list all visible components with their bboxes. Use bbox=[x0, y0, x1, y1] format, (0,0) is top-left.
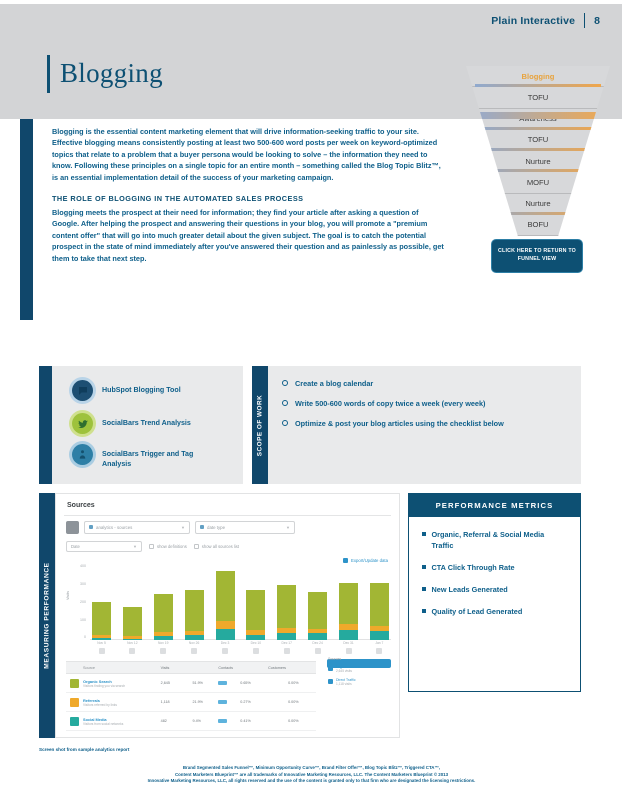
grid-toggle-icon[interactable] bbox=[66, 521, 79, 534]
funnel-row-nurture-1[interactable]: Nurture bbox=[466, 151, 610, 172]
table-cell-source: Social Media Visitors from social networ… bbox=[83, 717, 157, 726]
chevron-down-icon: ▼ bbox=[133, 544, 137, 549]
section-heading: THE ROLE OF BLOGGING IN THE AUTOMATED SA… bbox=[52, 194, 447, 203]
chart-bar-segment bbox=[185, 590, 204, 630]
funnel-row-blogging[interactable]: Blogging bbox=[466, 66, 610, 87]
funnel-divider-bar bbox=[475, 127, 602, 130]
chart-x-tick-label: Nov 19 bbox=[154, 641, 173, 661]
scope-item: Optimize & post your blog articles using… bbox=[282, 418, 567, 429]
chart-bar-segment bbox=[370, 583, 389, 626]
table-cell-bar bbox=[218, 719, 236, 723]
brand-header: Plain Interactive 8 bbox=[491, 13, 600, 28]
table-row[interactable]: Organic Search Visitors finding you via … bbox=[66, 674, 316, 693]
chart-bar-segment bbox=[277, 633, 296, 640]
table-header-customers[interactable]: Customers bbox=[268, 666, 284, 670]
performance-metrics-body: Organic, Referral & Social Media Traffic… bbox=[409, 517, 580, 617]
page-title: Blogging bbox=[60, 58, 163, 89]
chart-x-marker bbox=[160, 648, 166, 654]
chart-bar-column bbox=[308, 566, 327, 640]
chevron-down-icon: ▼ bbox=[286, 525, 290, 530]
table-cell-visits: 2,645 bbox=[161, 681, 189, 685]
table-cell-visits-pct: 21.9% bbox=[193, 700, 215, 704]
chart-bar-column bbox=[277, 566, 296, 640]
table-header-row: Source Visits Contacts Customers bbox=[66, 661, 316, 674]
source-desc: Visitors referred by links bbox=[83, 703, 157, 707]
intro-accent-edge bbox=[20, 119, 33, 320]
chart-x-marker bbox=[222, 648, 228, 654]
square-bullet-icon bbox=[422, 532, 426, 536]
chart-x-tick-label: Dec 10 bbox=[246, 641, 265, 661]
show-definitions-checkbox[interactable]: show definitions bbox=[149, 544, 187, 549]
screenshot-filter-row: analytics - sources ▼ date type ▼ bbox=[66, 520, 389, 534]
tool-item-trend-analysis[interactable]: SocialBars Trend Analysis bbox=[72, 413, 191, 434]
show-all-sources-label: show all sources list bbox=[202, 544, 239, 549]
table-row[interactable]: Referrals Visitors referred by links 1,1… bbox=[66, 693, 316, 712]
square-bullet-icon bbox=[422, 609, 426, 613]
table-cell-contacts: 0.65% bbox=[240, 681, 264, 685]
chart-x-marker bbox=[191, 648, 197, 654]
chart-bar-segment bbox=[370, 631, 389, 640]
table-header-source[interactable]: Source bbox=[83, 666, 157, 670]
table-cell-customers: 0.00% bbox=[288, 681, 312, 685]
funnel-row-nurture-2[interactable]: Nurture bbox=[466, 194, 610, 215]
person-icon bbox=[72, 444, 93, 465]
table-cell-customers: 0.00% bbox=[288, 719, 312, 723]
funnel-row-label: BOFU bbox=[527, 220, 548, 229]
chart-x-marker bbox=[99, 648, 105, 654]
chart-bar-column bbox=[339, 566, 358, 640]
tool-label: SocialBars Trigger and Tag Analysis bbox=[102, 444, 222, 469]
funnel-divider-bar bbox=[475, 169, 602, 172]
funnel-row-label: Nurture bbox=[525, 199, 550, 208]
title-accent-bar bbox=[47, 55, 50, 93]
funnel-row-label: MOFU bbox=[527, 178, 549, 187]
chart-bar-segment bbox=[277, 585, 296, 628]
metric-text: CTA Click Through Rate bbox=[432, 562, 515, 573]
table-cell-contacts: 0.41% bbox=[240, 719, 264, 723]
checkbox-icon bbox=[194, 544, 199, 549]
analytics-source-value: analytics - sources bbox=[96, 525, 132, 530]
table-cell-visits: 482 bbox=[161, 719, 189, 723]
select-icon bbox=[200, 525, 204, 529]
list-marker-icon bbox=[328, 666, 333, 671]
chart-y-axis-label: Visits bbox=[66, 591, 70, 600]
date-type-select[interactable]: date type ▼ bbox=[195, 521, 295, 534]
funnel-row-label: Blogging bbox=[522, 72, 555, 81]
intro-paragraph-2: Blogging meets the prospect at their nee… bbox=[52, 207, 447, 264]
y-tick: 0 bbox=[84, 635, 86, 639]
bottom-strip bbox=[0, 800, 622, 806]
chart-bar-column bbox=[154, 566, 173, 640]
y-tick: 400 bbox=[80, 564, 86, 568]
date-range-select[interactable]: Date ▼ bbox=[66, 541, 142, 552]
source-color-swatch bbox=[70, 698, 79, 707]
metric-text: Quality of Lead Generated bbox=[432, 606, 523, 617]
side-list-item[interactable]: Organic Search 2,645 visits bbox=[328, 665, 391, 673]
spacer bbox=[70, 663, 79, 672]
analytics-source-select[interactable]: analytics - sources ▼ bbox=[84, 521, 190, 534]
scope-item: Write 500-600 words of copy twice a week… bbox=[282, 398, 567, 409]
brand-name: Plain Interactive bbox=[491, 15, 575, 27]
funnel-divider-bar bbox=[475, 148, 602, 151]
bird-icon bbox=[72, 413, 93, 434]
metric-item: Organic, Referral & Social Media Traffic bbox=[422, 529, 567, 551]
table-cell-bar bbox=[218, 681, 236, 685]
export-data-label: Export/Update data bbox=[351, 558, 388, 563]
screenshot-side-list: Sources Organic Search 2,645 visits Dire… bbox=[328, 657, 391, 691]
show-definitions-label: show definitions bbox=[157, 544, 187, 549]
chart-bar-segment bbox=[216, 621, 235, 629]
tool-item-hubspot[interactable]: HubSpot Blogging Tool bbox=[72, 380, 181, 401]
chart-bar-segment bbox=[339, 630, 358, 640]
chart-x-tick-label: Dec 3 bbox=[216, 641, 235, 661]
source-color-swatch bbox=[70, 679, 79, 688]
table-cell-contacts: 0.27% bbox=[240, 700, 264, 704]
chart-bar-segment bbox=[339, 583, 358, 625]
table-cell-customers: 0.00% bbox=[288, 700, 312, 704]
y-tick: 300 bbox=[80, 582, 86, 586]
chart-x-marker bbox=[376, 648, 382, 654]
chart-bar-segment bbox=[154, 594, 173, 632]
chart-bar-column bbox=[123, 566, 142, 640]
measuring-performance-sidebar-label: MEASURING PERFORMANCE bbox=[44, 562, 51, 668]
table-cell-source: Referrals Visitors referred by links bbox=[83, 698, 157, 707]
chart-x-tick-label: Nov 12 bbox=[123, 641, 142, 661]
table-cell-visits: 1,118 bbox=[161, 700, 189, 704]
chart-bar-segment bbox=[246, 635, 265, 640]
circle-bullet-icon bbox=[282, 400, 288, 406]
tools-accent-edge bbox=[39, 366, 52, 484]
chart-y-ticks: 400 300 200 100 0 bbox=[74, 566, 88, 640]
side-item-sub: 1,118 visits bbox=[336, 682, 356, 686]
mini-bar-icon bbox=[218, 700, 227, 704]
performance-metrics-panel: PERFORMANCE METRICS Organic, Referral & … bbox=[408, 493, 581, 692]
page-root: Plain Interactive 8 Blogging Blogging is… bbox=[0, 0, 622, 806]
funnel-row-label: Nurture bbox=[525, 157, 550, 166]
chart-x-marker bbox=[284, 648, 290, 654]
scope-item-text: Write 500-600 words of copy twice a week… bbox=[295, 398, 485, 409]
side-item-text: Organic Search 2,645 visits bbox=[336, 665, 360, 673]
screenshot-caption: Screen shot from sample analytics report bbox=[39, 747, 129, 752]
chart-x-tick-label: Dec 24 bbox=[308, 641, 327, 661]
side-item-sub: 2,645 visits bbox=[336, 669, 360, 673]
chart-bar-segment bbox=[123, 639, 142, 640]
performance-metrics-title: PERFORMANCE METRICS bbox=[436, 501, 554, 510]
mini-bar-icon bbox=[218, 719, 227, 723]
side-item-text: Direct Traffic 1,118 visits bbox=[336, 678, 356, 686]
measuring-performance-sidebar: MEASURING PERFORMANCE bbox=[39, 493, 55, 738]
checkbox-icon bbox=[149, 544, 154, 549]
chart-bar-segment bbox=[216, 629, 235, 640]
funnel-divider-bar bbox=[475, 212, 602, 215]
intro-paragraph-1: Blogging is the essential content market… bbox=[52, 126, 447, 183]
chart-x-tick-label: Dec 17 bbox=[277, 641, 296, 661]
brand-separator bbox=[584, 13, 585, 28]
performance-metrics-header: PERFORMANCE METRICS bbox=[409, 494, 580, 517]
square-bullet-icon bbox=[422, 587, 426, 591]
chart-x-marker bbox=[315, 648, 321, 654]
y-tick: 100 bbox=[80, 618, 86, 622]
footer-line-2: Content Marketers Blueprint™ are all tra… bbox=[39, 772, 584, 779]
scope-item-text: Optimize & post your blog articles using… bbox=[295, 418, 504, 429]
chart-bar-segment bbox=[308, 592, 327, 628]
top-rule bbox=[0, 0, 622, 4]
y-tick: 200 bbox=[80, 600, 86, 604]
metric-text: Organic, Referral & Social Media Traffic bbox=[432, 529, 568, 551]
funnel-row-tofu-1[interactable]: TOFU bbox=[466, 87, 610, 108]
chart-bar-segment bbox=[308, 633, 327, 640]
source-desc: Visitors from social networks bbox=[83, 722, 157, 726]
chart-x-marker bbox=[129, 648, 135, 654]
screenshot-filter-row-2: Date ▼ show definitions show all sources… bbox=[66, 540, 389, 552]
scope-of-work-sidebar-label: SCOPE OF WORK bbox=[257, 394, 264, 456]
metric-item: New Leads Generated bbox=[422, 584, 567, 595]
side-list-item[interactable]: Direct Traffic 1,118 visits bbox=[328, 678, 391, 686]
chevron-down-icon: ▼ bbox=[181, 525, 185, 530]
table-cell-source: Organic Search Visitors finding you via … bbox=[83, 679, 157, 688]
footer-line-1: Brand Segmented Sales Funnel™, Minimum O… bbox=[39, 765, 584, 772]
side-list-header: Sources bbox=[328, 657, 391, 661]
show-all-sources-checkbox[interactable]: show all sources list bbox=[194, 544, 239, 549]
scope-of-work-panel: Create a blog calendar Write 500-600 wor… bbox=[268, 366, 581, 484]
source-color-swatch bbox=[70, 717, 79, 726]
table-header-contacts[interactable]: Contacts bbox=[218, 666, 236, 670]
date-type-value: date type bbox=[207, 525, 225, 530]
chart-bar-segment bbox=[92, 638, 111, 640]
circle-bullet-icon bbox=[282, 380, 288, 386]
screenshot-divider bbox=[64, 515, 391, 516]
square-bullet-icon bbox=[422, 565, 426, 569]
mini-bar-icon bbox=[218, 681, 227, 685]
funnel-divider-bar bbox=[475, 84, 602, 87]
return-to-funnel-label: CLICK HERE TO RETURN TO FUNNEL VIEW bbox=[492, 248, 582, 263]
select-icon bbox=[89, 525, 93, 529]
sources-table: Source Visits Contacts Customers Organic… bbox=[66, 661, 316, 731]
metric-item: CTA Click Through Rate bbox=[422, 562, 567, 573]
funnel-rows: Blogging TOFU Awareness TOFU Nurture bbox=[466, 66, 610, 236]
scope-item-text: Create a blog calendar bbox=[295, 378, 373, 389]
chart-bar-segment bbox=[154, 636, 173, 640]
export-icon bbox=[343, 558, 348, 563]
funnel-shape: Blogging TOFU Awareness TOFU Nurture bbox=[466, 66, 610, 236]
metric-text: New Leads Generated bbox=[432, 584, 508, 595]
funnel-highlight-overlay bbox=[470, 112, 610, 119]
tools-panel: HubSpot Blogging Tool SocialBars Trend A… bbox=[52, 366, 243, 484]
table-header-visits[interactable]: Visits bbox=[161, 666, 189, 670]
circle-bullet-icon bbox=[282, 420, 288, 426]
chart-bars bbox=[90, 566, 391, 640]
chart-bar-segment bbox=[123, 607, 142, 636]
chart-x-marker bbox=[346, 648, 352, 654]
export-data-link[interactable]: Export/Update data bbox=[343, 558, 388, 563]
chart-x-tick-label: Nov 26 bbox=[185, 641, 204, 661]
table-cell-visits-pct: 51.9% bbox=[193, 681, 215, 685]
list-marker-icon bbox=[328, 679, 333, 684]
sales-funnel-diagram: Blogging TOFU Awareness TOFU Nurture bbox=[466, 66, 610, 236]
table-cell-visits-pct: 9.4% bbox=[193, 719, 215, 723]
chart-bar-segment bbox=[185, 635, 204, 640]
scope-of-work-sidebar: SCOPE OF WORK bbox=[252, 366, 268, 484]
chart-x-marker bbox=[253, 648, 259, 654]
intro-block: Blogging is the essential content market… bbox=[52, 126, 447, 264]
table-cell-bar bbox=[218, 700, 236, 704]
chart-x-tick-label: Nov 5 bbox=[92, 641, 111, 661]
tool-item-trigger-tag[interactable]: SocialBars Trigger and Tag Analysis bbox=[72, 444, 222, 469]
footer-legal: Brand Segmented Sales Funnel™, Minimum O… bbox=[39, 765, 584, 785]
chart-bar-column bbox=[370, 566, 389, 640]
date-range-value: Date bbox=[71, 544, 80, 549]
funnel-row-bofu[interactable]: BOFU bbox=[466, 215, 610, 236]
page-number: 8 bbox=[594, 15, 600, 27]
funnel-row-label: TOFU bbox=[528, 135, 549, 144]
speech-bubble-icon bbox=[72, 380, 93, 401]
source-desc: Visitors finding you via search bbox=[83, 684, 157, 688]
sources-bar-chart: Visits 400 300 200 100 0 Nov 5Nov 12Nov … bbox=[66, 566, 391, 656]
analytics-screenshot: Sources analytics - sources ▼ date type … bbox=[55, 493, 400, 738]
screenshot-title: Sources bbox=[67, 502, 95, 509]
chart-bar-column bbox=[216, 566, 235, 640]
funnel-row-tofu-2[interactable]: TOFU bbox=[466, 130, 610, 151]
chart-bar-column bbox=[246, 566, 265, 640]
return-to-funnel-button[interactable]: CLICK HERE TO RETURN TO FUNNEL VIEW bbox=[491, 239, 583, 273]
chart-bar-segment bbox=[216, 571, 235, 621]
chart-bar-column bbox=[92, 566, 111, 640]
chart-bar-segment bbox=[246, 590, 265, 630]
scope-item: Create a blog calendar bbox=[282, 378, 567, 389]
chart-bar-column bbox=[185, 566, 204, 640]
funnel-row-mofu[interactable]: MOFU bbox=[466, 172, 610, 193]
table-row[interactable]: Social Media Visitors from social networ… bbox=[66, 712, 316, 731]
funnel-row-label: TOFU bbox=[528, 93, 549, 102]
metric-item: Quality of Lead Generated bbox=[422, 606, 567, 617]
tool-label: HubSpot Blogging Tool bbox=[102, 380, 181, 395]
tool-label: SocialBars Trend Analysis bbox=[102, 413, 191, 428]
footer-line-3: Innovative Marketing Resources, LLC, all… bbox=[39, 778, 584, 785]
chart-bar-segment bbox=[92, 602, 111, 635]
